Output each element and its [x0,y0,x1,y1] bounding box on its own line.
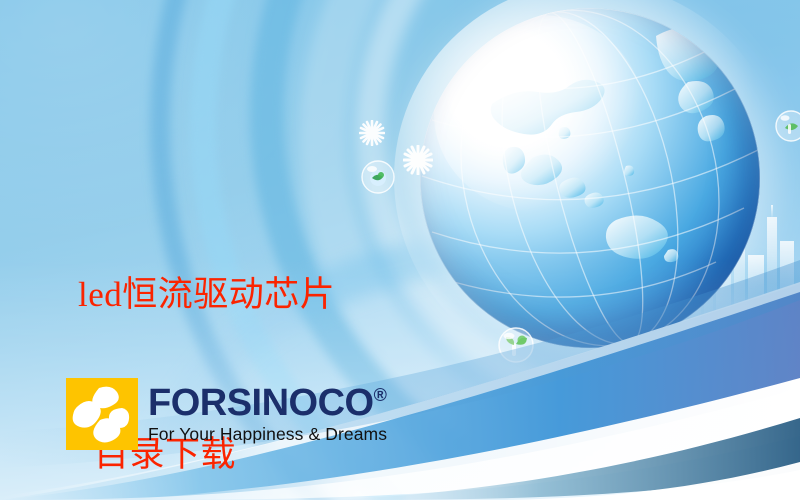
brand-logo[interactable]: FORSINOCO ® For Your Happiness & Dreams [66,378,387,450]
bubble-right-edge-icon [775,110,800,142]
headline-line-1: led恒流驱动芯片 [78,268,418,321]
brand-name-text: FORSINOCO [148,384,374,422]
forsinoco-flower-mark-icon [66,378,138,450]
registered-trademark-icon: ® [374,386,387,404]
sparkle-flower-1-icon [359,120,385,146]
poster-canvas: led恒流驱动芯片 目录下载 FORSINOCO ® For Your Happ… [0,0,800,500]
brand-name: FORSINOCO ® [148,384,387,422]
brand-lockup-text: FORSINOCO ® For Your Happiness & Dreams [148,384,387,445]
brand-tagline: For Your Happiness & Dreams [148,424,387,445]
